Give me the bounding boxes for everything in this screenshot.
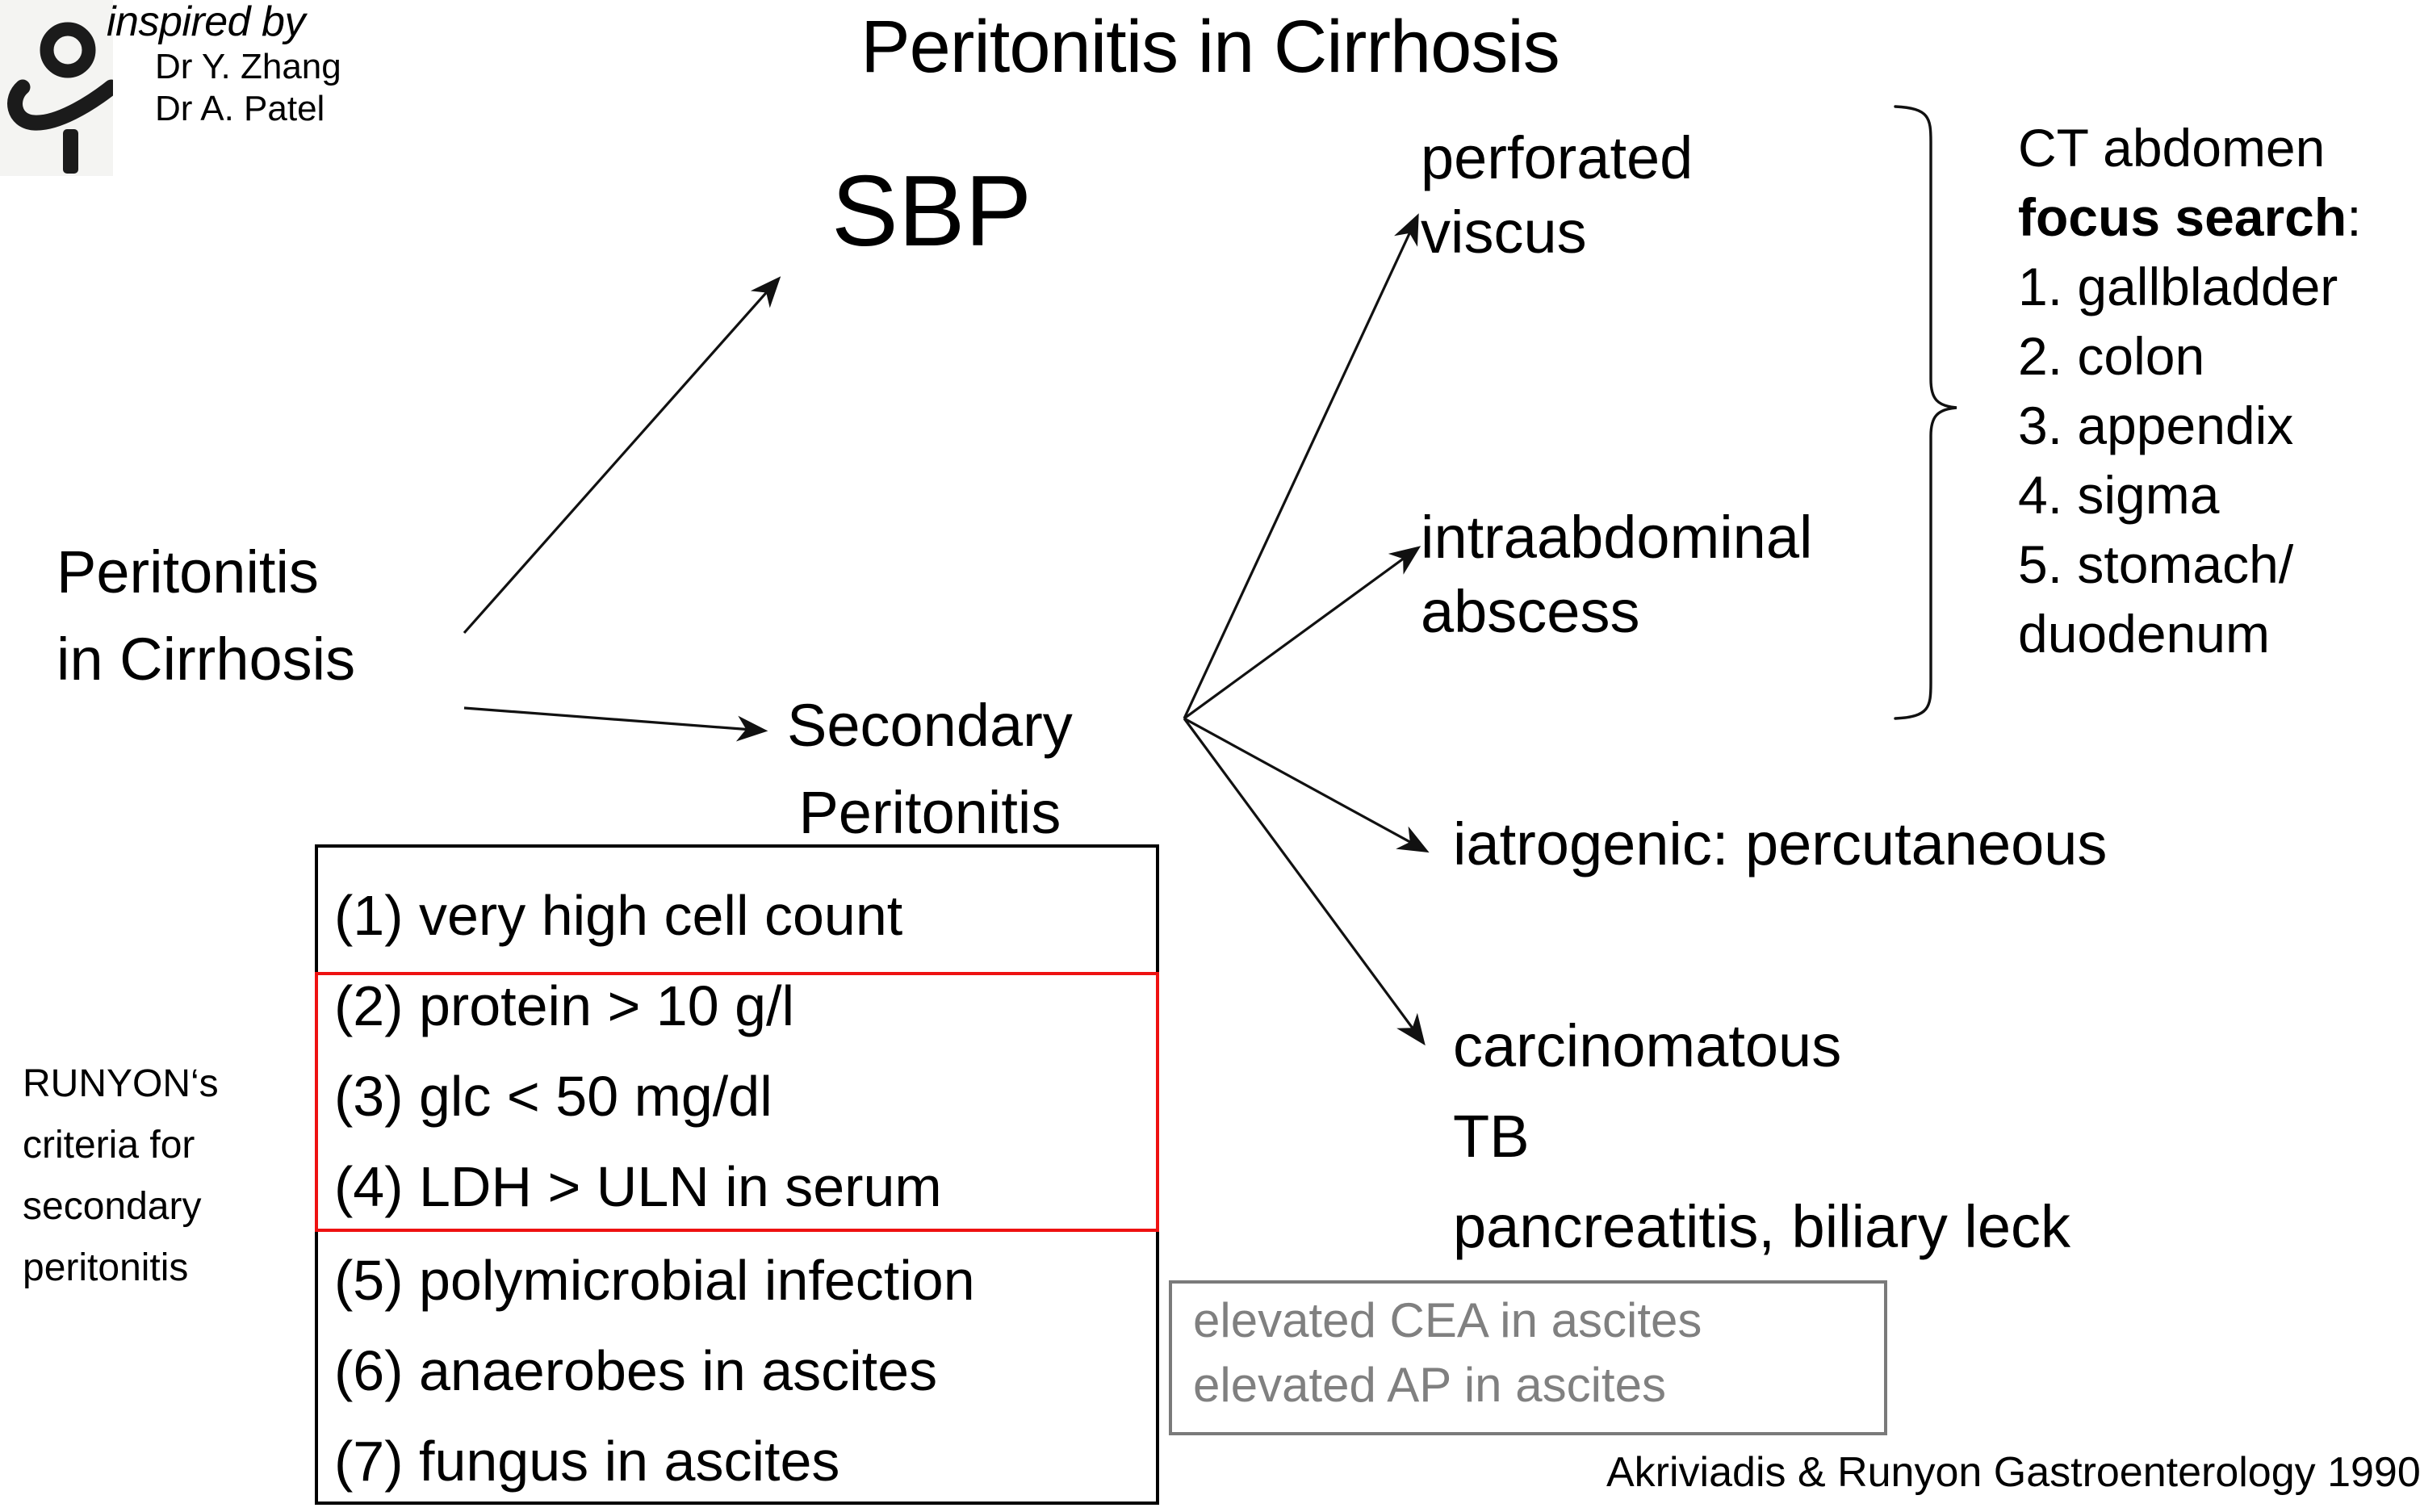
node-root-line-1: Peritonitis (57, 529, 355, 616)
slide-canvas: inspired by Dr Y. Zhang Dr A. Patel Peri… (0, 0, 2420, 1512)
ct-panel-heading-1: CT abdomen (2018, 113, 2362, 182)
ct-panel-item-3: 3. appendix (2018, 391, 2362, 460)
arrow-secondary-to-abscess (1184, 549, 1417, 718)
node-root-peritonitis: Peritonitis in Cirrhosis (57, 529, 355, 703)
grouping-brace (1895, 107, 1957, 718)
node-sbp: SBP (831, 161, 1032, 262)
note-line-2: elevated AP in ascites (1193, 1353, 1702, 1418)
arrow-root-to-sbp (464, 280, 777, 633)
branch-intraabdominal-abscess: intraabdominal abscess (1421, 501, 1812, 649)
branch-carcinoma-line-1: carcinomatous (1453, 1001, 2070, 1091)
ct-panel-item-5-continued: duodenum (2018, 599, 2362, 668)
runyon-side-line-1: RUNYON‘s (23, 1053, 219, 1115)
ct-panel-item-5: 5. stomach/ (2018, 530, 2362, 599)
node-secondary-line-1: Secondary (787, 682, 1073, 769)
arrow-secondary-to-perforated (1184, 218, 1417, 718)
arrow-root-to-secondary (464, 708, 763, 731)
runyon-criterion-4: (4) LDH > ULN in serum (334, 1156, 942, 1217)
runyon-criterion-3: (3) glc < 50 mg/dl (334, 1066, 772, 1127)
credit-author-2: Dr A. Patel (155, 89, 324, 129)
ct-abdomen-panel: CT abdomen focus search: 1. gallbladder … (2018, 113, 2362, 668)
branch-iatrogenic: iatrogenic: percutaneous (1453, 807, 2107, 882)
runyon-side-line-2: criteria for (23, 1115, 219, 1176)
ascites-marker-note-text: elevated CEA in ascites elevated AP in a… (1193, 1288, 1702, 1418)
ct-panel-focus-search-label: focus search (2018, 187, 2347, 247)
runyon-criterion-6: (6) anaerobes in ascites (334, 1340, 937, 1401)
runyon-criterion-5: (5) polymicrobial infection (334, 1250, 975, 1311)
note-line-1: elevated CEA in ascites (1193, 1288, 1702, 1353)
ct-panel-item-1: 1. gallbladder (2018, 252, 2362, 321)
branch-perforated-line-2: viscus (1421, 195, 1693, 270)
runyon-side-line-3: secondary (23, 1176, 219, 1238)
node-root-line-2: in Cirrhosis (57, 616, 355, 703)
arrow-secondary-to-carcinoma (1184, 718, 1422, 1041)
slide-title: Peritonitis in Cirrhosis (0, 5, 2420, 89)
branch-carcinoma-line-2: TB (1453, 1091, 2070, 1182)
ct-panel-item-4: 4. sigma (2018, 460, 2362, 530)
runyon-criteria-side-label: RUNYON‘s criteria for secondary peritoni… (23, 1053, 219, 1299)
ct-panel-colon: : (2347, 187, 2361, 247)
runyon-criterion-7: (7) fungus in ascites (334, 1430, 839, 1492)
arrow-secondary-to-iatrogenic (1184, 718, 1425, 850)
branch-carcinomatous: carcinomatous TB pancreatitis, biliary l… (1453, 1001, 2070, 1272)
runyon-side-line-4: peritonitis (23, 1238, 219, 1299)
branch-perforated-line-1: perforated (1421, 121, 1693, 195)
branch-abscess-line-2: abscess (1421, 575, 1812, 649)
branch-abscess-line-1: intraabdominal (1421, 501, 1812, 575)
source-citation: Akriviadis & Runyon Gastroenterology 199… (1606, 1447, 2420, 1498)
runyon-criterion-1: (1) very high cell count (334, 885, 902, 946)
runyon-criterion-2: (2) protein > 10 g/l (334, 975, 794, 1037)
branch-perforated-viscus: perforated viscus (1421, 121, 1693, 270)
node-secondary-peritonitis: Secondary Peritonitis (787, 682, 1073, 857)
ct-panel-item-2: 2. colon (2018, 321, 2362, 391)
node-secondary-line-2: Peritonitis (787, 769, 1073, 857)
branch-carcinoma-line-3: pancreatitis, biliary leck (1453, 1182, 2070, 1272)
ct-panel-heading-2: focus search: (2018, 182, 2362, 252)
